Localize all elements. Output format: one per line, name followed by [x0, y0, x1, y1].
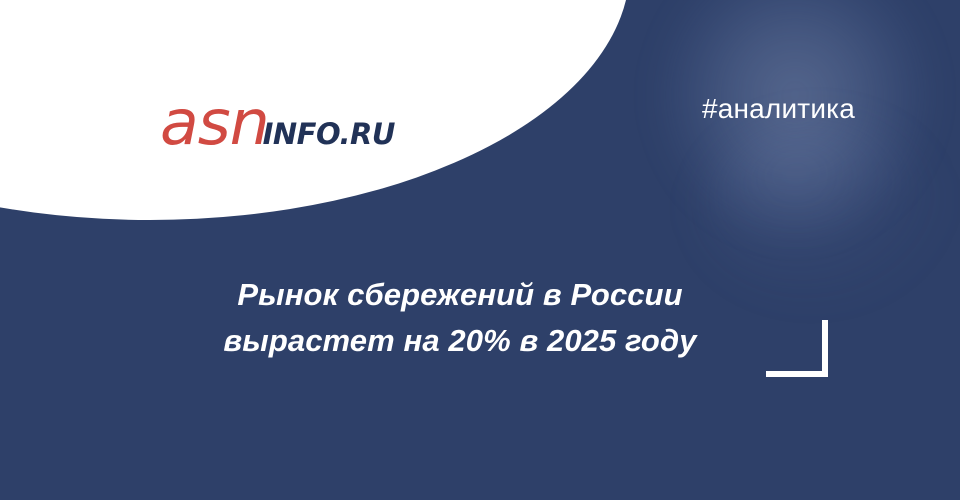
- headline-line-2: вырастет на 20% в 2025 году: [0, 318, 920, 364]
- social-card: asnINFO.RU #аналитика Рынок сбережений в…: [0, 0, 960, 500]
- brand-logo[interactable]: asnINFO.RU: [160, 92, 395, 154]
- headline-line-1: Рынок сбережений в России: [0, 272, 920, 318]
- brand-logo-asn-text: asn: [160, 92, 269, 154]
- hashtag-analytics[interactable]: #аналитика: [702, 92, 855, 126]
- headline: Рынок сбережений в России вырастет на 20…: [0, 272, 920, 364]
- corner-bracket-horizontal-bar: [766, 371, 828, 377]
- brand-logo-inforu-text: INFO.RU: [263, 120, 395, 149]
